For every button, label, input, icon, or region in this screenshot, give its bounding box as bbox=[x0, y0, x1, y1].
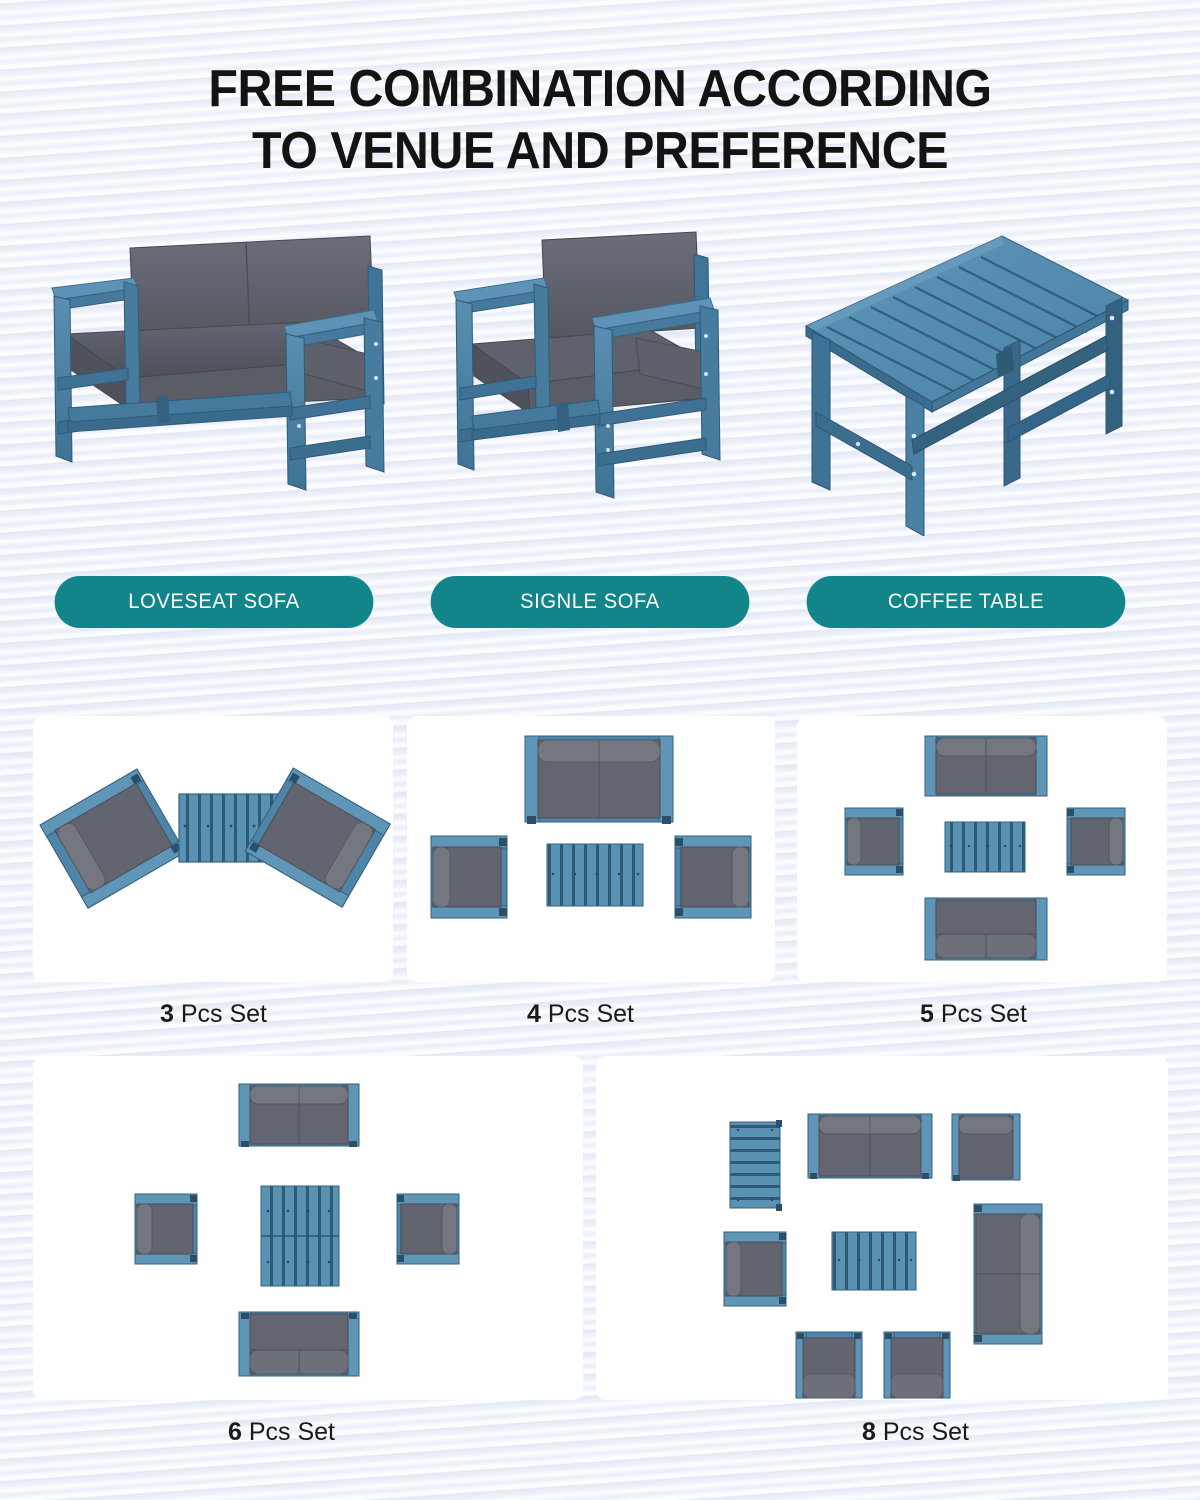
set6-chair-right bbox=[397, 1194, 459, 1264]
set-label-4-pcs: 4 Pcs Set bbox=[527, 1000, 634, 1029]
set8-chair-left bbox=[724, 1232, 786, 1306]
set4-loveseat bbox=[525, 736, 673, 824]
set-card-3-pcs[interactable] bbox=[33, 716, 393, 982]
set8-loveseat-top bbox=[808, 1114, 932, 1179]
set4-chair-left bbox=[431, 836, 507, 918]
set-4-count: 4 bbox=[527, 1000, 541, 1028]
set-6-count: 6 bbox=[228, 1418, 242, 1446]
set8-chair-bottom-left bbox=[796, 1332, 862, 1398]
title-line-1: FREE COMBINATION ACCORDING bbox=[42, 58, 1158, 120]
set-6-suffix: Pcs Set bbox=[242, 1418, 335, 1446]
set-5-suffix: Pcs Set bbox=[934, 1000, 1027, 1028]
set-label-5-pcs: 5 Pcs Set bbox=[920, 1000, 1027, 1029]
single-sofa-image bbox=[438, 226, 754, 536]
title-line-2: TO VENUE AND PREFERENCE bbox=[42, 120, 1158, 182]
set8-table-left bbox=[730, 1120, 782, 1211]
loveseat-svg bbox=[38, 226, 404, 536]
set-label-3-pcs: 3 Pcs Set bbox=[160, 1000, 267, 1029]
set-5-count: 5 bbox=[920, 1000, 934, 1028]
set6-table-double bbox=[261, 1186, 339, 1286]
set-8-count: 8 bbox=[862, 1418, 876, 1446]
set-4-suffix: Pcs Set bbox=[541, 1000, 634, 1028]
set5-table bbox=[945, 822, 1025, 872]
set6-chair-left bbox=[135, 1194, 197, 1264]
set3-chair-left bbox=[40, 769, 185, 908]
set-3-layout bbox=[33, 716, 393, 982]
set8-chair-bottom-right bbox=[884, 1332, 950, 1398]
set5-loveseat-top bbox=[925, 736, 1047, 796]
set6-loveseat-top bbox=[239, 1084, 359, 1147]
set-card-5-pcs[interactable] bbox=[797, 716, 1167, 982]
set-3-count: 3 bbox=[160, 1000, 174, 1028]
set-8-suffix: Pcs Set bbox=[876, 1418, 969, 1446]
set5-loveseat-bottom bbox=[925, 898, 1047, 960]
pill-loveseat-sofa[interactable]: LOVESEAT SOFA bbox=[55, 576, 374, 628]
set-8-layout bbox=[596, 1056, 1168, 1400]
set4-table bbox=[547, 844, 643, 906]
coffee-table-image bbox=[790, 226, 1140, 536]
set-5-layout bbox=[797, 716, 1167, 982]
set5-chair-right bbox=[1067, 808, 1125, 875]
set8-chair-top-right bbox=[952, 1114, 1020, 1181]
pill-loveseat-label: LOVESEAT SOFA bbox=[128, 590, 299, 614]
set-3-suffix: Pcs Set bbox=[174, 1000, 267, 1028]
set5-chair-left bbox=[845, 808, 903, 875]
pill-coffee-table-label: COFFEE TABLE bbox=[888, 590, 1044, 614]
product-label-row: LOVESEAT SOFA SIGNLE SOFA COFFEE TABLE bbox=[0, 576, 1200, 628]
pill-coffee-table[interactable]: COFFEE TABLE bbox=[807, 576, 1126, 628]
set4-chair-right bbox=[675, 836, 751, 918]
hero-product-row bbox=[0, 226, 1200, 536]
set-6-layout bbox=[33, 1056, 583, 1400]
set-label-8-pcs: 8 Pcs Set bbox=[862, 1418, 969, 1447]
coffee-table-svg bbox=[790, 226, 1140, 536]
pill-single-sofa[interactable]: SIGNLE SOFA bbox=[431, 576, 750, 628]
set6-loveseat-bottom bbox=[239, 1312, 359, 1376]
set-4-layout bbox=[407, 716, 775, 982]
set-card-8-pcs[interactable] bbox=[596, 1056, 1168, 1400]
single-sofa-svg bbox=[438, 226, 754, 536]
set3-chair-right bbox=[245, 768, 390, 907]
set-card-4-pcs[interactable] bbox=[407, 716, 775, 982]
pill-single-label: SIGNLE SOFA bbox=[520, 590, 660, 614]
set-label-6-pcs: 6 Pcs Set bbox=[228, 1418, 335, 1447]
loveseat-sofa-image bbox=[38, 226, 404, 536]
page-title: FREE COMBINATION ACCORDING TO VENUE AND … bbox=[0, 58, 1200, 182]
set-card-6-pcs[interactable] bbox=[33, 1056, 583, 1400]
set8-table-center bbox=[832, 1232, 916, 1290]
set8-loveseat-right bbox=[974, 1204, 1042, 1344]
